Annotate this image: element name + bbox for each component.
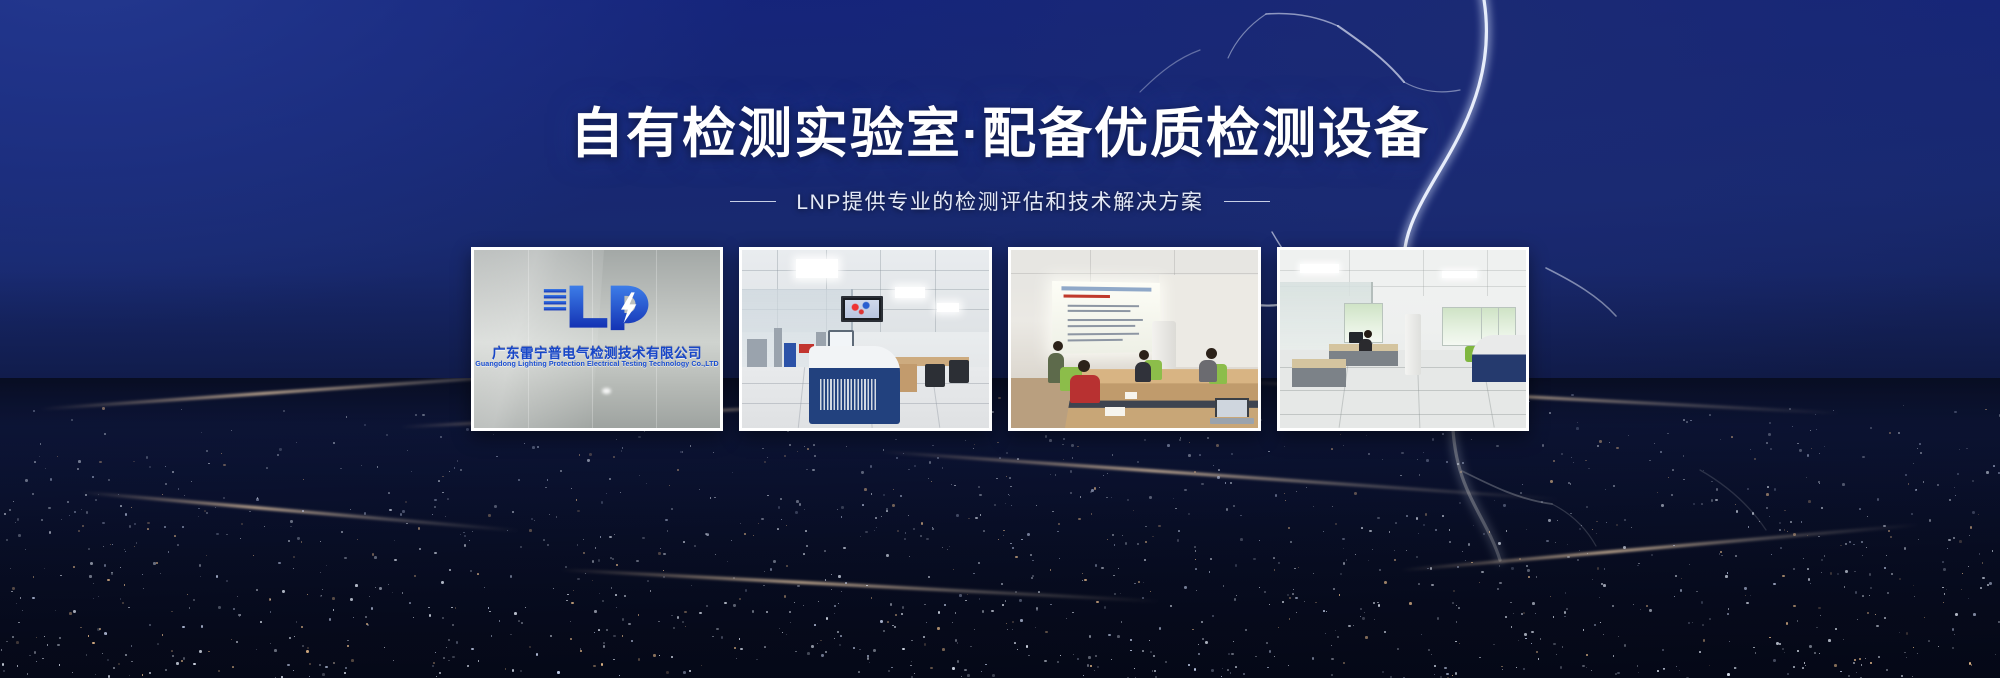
ceiling-light-reflection [602, 388, 611, 394]
attendee-head [1139, 350, 1149, 360]
gallery-item-training-room[interactable] [1008, 247, 1261, 431]
photo-gallery-strip: 广东雷宁普电气检测技术有限公司 Guangdong Lighting Prote… [471, 247, 1529, 431]
lnp-logo-mark-icon [537, 276, 657, 338]
worker-body [1359, 339, 1372, 351]
high-voltage-lab-photo [742, 250, 989, 428]
banner-text-block: 自有检测实验室·配备优质检测设备 LNP提供专业的检测评估和技术解决方案 [0, 104, 2000, 216]
hero-banner: 自有检测实验室·配备优质检测设备 LNP提供专业的检测评估和技术解决方案 [0, 0, 2000, 678]
training-room-photo [1011, 250, 1258, 428]
gallery-item-company-sign[interactable]: 广东雷宁普电气检测技术有限公司 Guangdong Lighting Prote… [471, 247, 723, 431]
attendee-body [1135, 362, 1151, 382]
workstation-desk [1292, 359, 1346, 387]
company-sign-photo: 广东雷宁普电气检测技术有限公司 Guangdong Lighting Prote… [474, 250, 720, 428]
worker-head [1364, 330, 1372, 338]
projector-slide [1052, 281, 1159, 354]
presenter-head [1053, 341, 1063, 351]
attendee-body [1199, 360, 1217, 382]
reception-counter [1472, 335, 1526, 381]
wall-monitor [841, 296, 883, 322]
attendee-head [1078, 360, 1090, 372]
office-area-photo [1280, 250, 1526, 428]
gallery-item-office-area[interactable] [1277, 247, 1529, 431]
gallery-item-high-voltage-lab[interactable] [739, 247, 992, 431]
sign-en-company-name: Guangdong Lighting Protection Electrical… [475, 360, 719, 368]
rule-right-icon [1224, 201, 1270, 202]
banner-headline: 自有检测实验室·配备优质检测设备 [0, 104, 2000, 164]
sign-cn-company-name: 广东雷宁普电气检测技术有限公司 [492, 342, 702, 362]
laptop [1210, 398, 1254, 424]
banner-subtitle-row: LNP提供专业的检测评估和技术解决方案 [0, 186, 2000, 216]
attendee-body [1070, 375, 1100, 403]
control-console [809, 346, 900, 424]
attendee-head [1206, 348, 1217, 359]
rule-left-icon [730, 201, 776, 202]
banner-subtitle: LNP提供专业的检测评估和技术解决方案 [796, 186, 1203, 216]
storage-cabinet [1405, 314, 1421, 375]
